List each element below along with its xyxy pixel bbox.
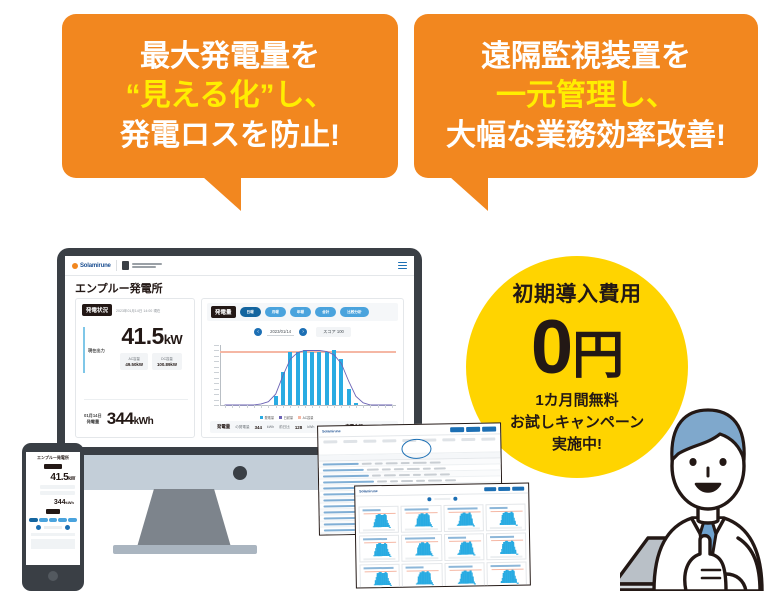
chart-x-tick bbox=[327, 405, 328, 408]
table-cell bbox=[423, 467, 431, 469]
chart-bar bbox=[310, 352, 314, 405]
chart-y-tick bbox=[214, 361, 219, 362]
grid-chart-cell[interactable] bbox=[443, 533, 484, 561]
grid-chart-title bbox=[363, 509, 381, 511]
chart-bar bbox=[347, 389, 351, 405]
grid-chart-cell[interactable] bbox=[444, 562, 485, 588]
chart-y-tick bbox=[214, 372, 219, 373]
bubble-left-line2: “見える化”し、 bbox=[125, 76, 334, 116]
dc-capacity: DC容量 100.89kW bbox=[152, 353, 182, 370]
tab-daily[interactable]: 日報 bbox=[240, 307, 261, 317]
grid-chart-footer bbox=[490, 527, 522, 529]
phone-kpi2-unit: kWh bbox=[66, 500, 74, 505]
chart-x-tick bbox=[276, 405, 277, 408]
promo-banner: 最大発電量を “見える化”し、 発電ロスを防止! 遠隔監視装置を 一元管理し、 … bbox=[0, 0, 772, 591]
summary-label: 発電量 bbox=[217, 424, 230, 430]
chart-x-tick bbox=[261, 405, 262, 408]
status-timestamp: 2023年01月14日 14:00 現在 bbox=[116, 308, 160, 313]
phone-page-title: エンプルー発電所 bbox=[26, 455, 80, 461]
left-eye bbox=[689, 458, 696, 466]
table-cell bbox=[372, 474, 381, 476]
table-doc-actions[interactable] bbox=[450, 426, 496, 432]
campaign-sub1: 1カ月間無料 bbox=[535, 390, 618, 412]
chart-x-tick bbox=[385, 405, 386, 408]
monitor-stand-neck bbox=[137, 489, 231, 547]
company-line2 bbox=[132, 266, 156, 268]
card-divider bbox=[84, 399, 188, 400]
status-card: 発電状況 2023年01月14日 14:00 現在 現在出力 41.5kW AC… bbox=[75, 298, 195, 438]
chart-bar bbox=[332, 350, 336, 405]
chart-bar bbox=[274, 396, 278, 405]
chart-y-tick bbox=[214, 378, 219, 379]
daily-energy-date: 01月14日 bbox=[84, 413, 102, 418]
status-card-header: 発電状況 2023年01月14日 14:00 現在 bbox=[76, 299, 194, 321]
summary-unit-1: kWh bbox=[267, 425, 274, 429]
chart-tabs: 発電量 日報 月報 年報 合計 比較分析 bbox=[207, 303, 398, 321]
chart-x-tick bbox=[305, 405, 306, 408]
chart-x-tick bbox=[341, 405, 342, 408]
daily-energy-value-row: 344kWh bbox=[107, 409, 153, 429]
chart-bar bbox=[317, 352, 321, 405]
table-cell bbox=[407, 467, 420, 469]
legend-generation: 発電量 bbox=[260, 415, 274, 420]
phone-score-row bbox=[31, 533, 75, 536]
grid-mini-chart bbox=[490, 510, 522, 526]
page-title: エンプルー発電所 bbox=[75, 280, 163, 296]
chart-bar bbox=[288, 352, 292, 405]
smartphone: エンプルー発電所 41.5kW 344kWh bbox=[22, 443, 84, 591]
phone-status-badge bbox=[44, 464, 62, 469]
bubble-right-line3: 大幅な業務効率改善! bbox=[446, 116, 726, 156]
table-cell bbox=[394, 468, 404, 470]
tab-yearly[interactable]: 年報 bbox=[290, 307, 311, 317]
kpi-accent-bar bbox=[83, 327, 85, 373]
bubble-left-line3: 発電ロスを防止! bbox=[120, 116, 340, 156]
grid-mini-chart bbox=[448, 510, 480, 526]
phone-chart-badge bbox=[46, 509, 60, 514]
grid-chart-cell[interactable] bbox=[486, 533, 527, 561]
brand-logo-icon bbox=[72, 263, 78, 269]
grid-chart-title bbox=[490, 536, 514, 538]
speech-bubble-right-tail bbox=[450, 177, 488, 211]
grid-chart-cell[interactable] bbox=[486, 562, 527, 589]
table-cell bbox=[401, 479, 413, 481]
bubble-right-line1: 遠隔監視装置を bbox=[481, 37, 691, 77]
phone-date-navigator[interactable] bbox=[26, 525, 80, 530]
table-cell bbox=[362, 462, 372, 464]
monitor-power-dot bbox=[233, 466, 247, 480]
grid-mini-chart bbox=[406, 511, 438, 527]
phone-tabs[interactable] bbox=[29, 518, 77, 522]
table-doc-brand: Solamirune bbox=[322, 429, 341, 433]
table-cell-name bbox=[323, 462, 359, 465]
grid-chart-cell[interactable] bbox=[402, 563, 443, 589]
chart-y-tick bbox=[214, 389, 219, 390]
grid-chart-footer bbox=[364, 587, 396, 588]
right-eye bbox=[719, 458, 726, 466]
presenter-illustration bbox=[620, 388, 772, 591]
table-cell-name bbox=[323, 480, 374, 483]
chart-y-tick bbox=[214, 356, 219, 357]
chart-x-tick bbox=[268, 405, 269, 408]
date-navigator: ‹ 2023/01/14 › スコア 100 bbox=[202, 327, 403, 337]
table-cell-name bbox=[323, 468, 364, 471]
grid-chart-cell[interactable] bbox=[359, 564, 400, 589]
grid-chart-cell[interactable] bbox=[401, 534, 442, 562]
campaign-amount: 0 bbox=[531, 305, 572, 390]
grid-chart-footer bbox=[448, 557, 480, 559]
table-cell bbox=[386, 462, 398, 464]
grid-mini-chart bbox=[449, 568, 481, 584]
current-output-label: 現在出力 bbox=[88, 348, 105, 354]
bubble-right-line2: 一元管理し、 bbox=[496, 76, 676, 116]
prev-date-button[interactable]: ‹ bbox=[254, 328, 262, 336]
daily-energy-unit: kWh bbox=[134, 416, 154, 427]
chart-y-tick bbox=[214, 383, 219, 384]
grid-doc-brand: Solamirune bbox=[359, 489, 378, 493]
grid-doc-cells bbox=[355, 501, 530, 588]
table-cell bbox=[434, 467, 446, 469]
summary-text-1: の発電量 bbox=[235, 425, 249, 430]
grid-mini-chart bbox=[449, 539, 481, 555]
monitor-stand-base bbox=[113, 545, 257, 554]
chart-y-tick bbox=[214, 367, 219, 368]
chart-x-tick bbox=[254, 405, 255, 408]
grid-chart-title bbox=[448, 565, 472, 567]
grid-chart-footer bbox=[406, 557, 438, 559]
chart-x-tick bbox=[247, 405, 248, 408]
table-cell bbox=[377, 480, 387, 482]
grid-chart-title bbox=[448, 537, 466, 539]
ac-capacity-value: 49.50kW bbox=[125, 362, 143, 367]
speech-bubble-left-tail bbox=[203, 177, 241, 211]
monitor-screen: Solamirune エンプルー発電所 発電状況 2023年01月14日 14:… bbox=[65, 256, 414, 447]
grid-mini-chart bbox=[491, 568, 523, 584]
phone-capacity-chip-2 bbox=[40, 491, 75, 495]
chart-bar bbox=[296, 352, 300, 405]
grid-mini-chart bbox=[365, 570, 397, 586]
campaign-sub3: 実施中! bbox=[552, 434, 602, 456]
chart-x-tick bbox=[312, 405, 313, 408]
chart-bar bbox=[325, 352, 329, 405]
campaign-heading: 初期導入費用 bbox=[513, 278, 642, 308]
grid-mini-chart bbox=[364, 541, 396, 557]
phone-home-button[interactable] bbox=[48, 571, 58, 581]
generation-chart bbox=[210, 345, 398, 413]
grid-chart-footer bbox=[363, 529, 395, 531]
grid-doc-actions[interactable] bbox=[484, 486, 524, 491]
ac-capacity: AC容量 49.50kW bbox=[120, 353, 148, 370]
menu-icon[interactable] bbox=[398, 262, 407, 270]
ac-capacity-label: AC容量 bbox=[125, 356, 143, 361]
phone-chart-area bbox=[31, 539, 75, 549]
phone-kpi-row: 41.5kW bbox=[26, 472, 80, 483]
grid-chart-cell[interactable] bbox=[401, 505, 442, 533]
summary-value-2: 128 bbox=[295, 425, 302, 430]
grid-mini-chart bbox=[364, 512, 396, 528]
chart-bar bbox=[281, 372, 285, 405]
grid-chart-title bbox=[406, 566, 424, 568]
campaign-currency: 円 bbox=[572, 327, 623, 385]
grid-chart-footer bbox=[490, 556, 522, 558]
chart-badge: 発電量 bbox=[211, 306, 236, 318]
grid-chart-footer bbox=[448, 586, 480, 588]
grid-chart-footer bbox=[363, 558, 395, 560]
grid-chart-footer bbox=[447, 528, 479, 530]
table-cell bbox=[430, 461, 441, 463]
table-cell bbox=[399, 474, 410, 476]
chart-x-tick bbox=[290, 405, 291, 408]
dc-capacity-value: 100.89kW bbox=[157, 362, 177, 367]
grid-mini-chart bbox=[407, 569, 439, 585]
daily-energy-value: 344 bbox=[107, 409, 134, 428]
grid-mini-chart bbox=[491, 539, 523, 555]
chart-legend: 発電量 日射量 AC容量 bbox=[260, 415, 313, 420]
grid-chart-title bbox=[489, 507, 507, 509]
table-cell bbox=[413, 473, 421, 475]
grid-chart-footer bbox=[491, 585, 523, 587]
dashboard-topbar: Solamirune bbox=[65, 256, 414, 276]
chart-x-tick bbox=[392, 405, 393, 408]
chart-x-tick bbox=[370, 405, 371, 408]
chart-bars bbox=[221, 345, 396, 405]
score-display: スコア 100 bbox=[316, 327, 351, 337]
summary-unit-2: kWh bbox=[307, 425, 314, 429]
score-value: 100 bbox=[337, 329, 344, 334]
grid-mini-chart bbox=[406, 540, 438, 556]
current-output-block: 現在出力 41.5kW AC容量 49.50kW DC容量 100.89kW bbox=[76, 321, 194, 370]
generation-chart-card: 発電量 日報 月報 年報 合計 比較分析 ‹ 2023/01/14 › スコア … bbox=[201, 298, 404, 438]
table-cell bbox=[375, 462, 383, 464]
speech-bubble-left: 最大発電量を “見える化”し、 発電ロスを防止! bbox=[62, 14, 398, 178]
phone-screen: エンプルー発電所 41.5kW 344kWh bbox=[26, 452, 80, 565]
grid-chart-cell[interactable] bbox=[485, 504, 526, 532]
table-cell bbox=[424, 473, 437, 475]
table-cell bbox=[384, 474, 396, 476]
company-line1 bbox=[132, 263, 162, 265]
daily-energy-caption: 発電量 bbox=[87, 419, 100, 424]
chart-x-tick bbox=[225, 405, 226, 408]
tab-compare[interactable]: 比較分析 bbox=[340, 307, 368, 317]
chart-bar bbox=[339, 359, 343, 405]
tab-total[interactable]: 合計 bbox=[315, 307, 336, 317]
chart-x-tick bbox=[319, 405, 320, 408]
phone-kpi2-row: 344kWh bbox=[26, 499, 80, 506]
table-cell bbox=[401, 462, 410, 464]
legend-ac-capacity: AC容量 bbox=[298, 415, 313, 420]
grid-chart-cell[interactable] bbox=[443, 504, 484, 532]
brand-name: Solamirune bbox=[80, 263, 111, 269]
chart-x-tick bbox=[356, 405, 357, 408]
chart-y-tick bbox=[214, 350, 219, 351]
table-cell bbox=[367, 468, 379, 470]
grid-chart-cell[interactable] bbox=[359, 535, 400, 563]
table-cell bbox=[413, 461, 427, 463]
phone-capacity-chip-1 bbox=[40, 485, 75, 489]
document-chart-grid: Solamirune bbox=[354, 482, 531, 588]
score-label: スコア bbox=[323, 329, 336, 334]
table-cell bbox=[416, 479, 425, 481]
daily-energy-label: 01月14日 発電量 bbox=[84, 413, 102, 425]
company-icon bbox=[122, 261, 129, 270]
table-cell-name bbox=[323, 474, 369, 477]
phone-kpi-unit: kW bbox=[68, 476, 75, 482]
bubble-left-line1: 最大発電量を bbox=[140, 37, 320, 77]
dc-capacity-label: DC容量 bbox=[157, 356, 177, 361]
table-cell bbox=[440, 473, 450, 475]
legend-irradiance: 日射量 bbox=[279, 415, 293, 420]
table-cell bbox=[445, 479, 456, 481]
speech-bubble-right: 遠隔監視装置を 一元管理し、 大幅な業務効率改善! bbox=[414, 14, 758, 178]
chart-x-tick bbox=[232, 405, 233, 408]
chart-y-tick bbox=[214, 345, 219, 346]
summary-value-1: 344 bbox=[255, 425, 262, 430]
current-output-unit: kW bbox=[164, 332, 182, 347]
chart-x-tick bbox=[298, 405, 299, 408]
table-cell bbox=[390, 480, 398, 482]
table-cell bbox=[382, 468, 391, 470]
chart-x-tick bbox=[239, 405, 240, 408]
campaign-amount-row: 0円 bbox=[531, 310, 623, 386]
grid-chart-footer bbox=[405, 528, 437, 530]
phone-kpi2-value: 344 bbox=[54, 499, 66, 506]
daily-energy-block: 01月14日 発電量 344kWh bbox=[84, 409, 190, 429]
current-output-value: 41.5 bbox=[121, 323, 163, 349]
chart-x-tick bbox=[334, 405, 335, 408]
date-value[interactable]: 2023/01/14 bbox=[267, 329, 294, 336]
phone-kpi-value: 41.5 bbox=[50, 472, 68, 483]
chart-bar bbox=[303, 350, 307, 405]
chart-y-tick bbox=[214, 405, 219, 406]
grid-chart-cell[interactable] bbox=[358, 506, 399, 534]
summary-text-2: 前日比 bbox=[279, 425, 290, 430]
current-output-value-row: 41.5kW bbox=[82, 325, 188, 348]
chart-y-tick bbox=[214, 394, 219, 395]
chart-y-tick bbox=[214, 400, 219, 401]
status-badge: 発電状況 bbox=[82, 304, 112, 316]
tab-monthly[interactable]: 月報 bbox=[265, 307, 286, 317]
chart-x-tick bbox=[363, 405, 364, 408]
topbar-divider bbox=[116, 260, 117, 271]
grid-chart-footer bbox=[406, 586, 438, 588]
next-date-button[interactable]: › bbox=[299, 328, 307, 336]
chart-x-tick bbox=[283, 405, 284, 408]
chart-x-tick bbox=[349, 405, 350, 408]
company-info bbox=[132, 263, 162, 268]
chart-x-tick bbox=[378, 405, 379, 408]
table-cell bbox=[428, 479, 442, 481]
